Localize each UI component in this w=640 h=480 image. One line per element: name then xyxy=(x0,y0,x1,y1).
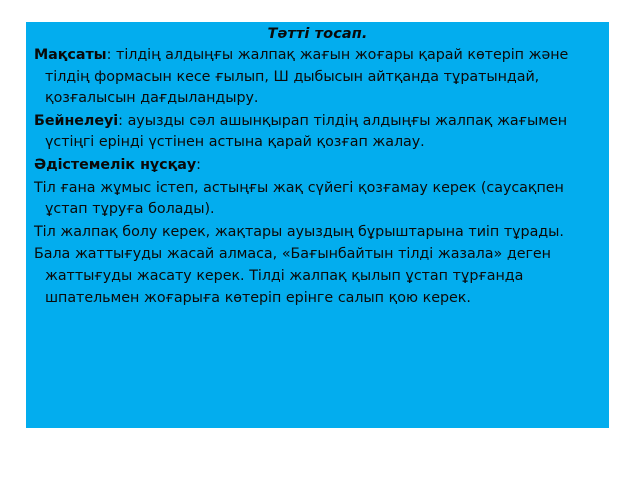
paragraph-text-instruction-1: Тіл ғана жұмыс істеп, астыңғы жақ сүйегі… xyxy=(34,180,564,218)
paragraph-label-adistemelik-nusqau: Әдістемелік нұсқау xyxy=(34,157,196,173)
paragraph-beinelewi: Бейнелеуі: ауызды сәл ашынқырап тілдің а… xyxy=(34,111,601,154)
paragraph-label-maqsaty: Мақсаты xyxy=(34,47,107,63)
slide-title: Тәтті тосап. xyxy=(26,24,609,44)
paragraph-label-beinelewi: Бейнелеуі xyxy=(34,113,118,129)
paragraph-separator-beinelewi: : xyxy=(118,113,127,129)
paragraph-separator-adistemelik-nusqau: : xyxy=(196,157,201,173)
paragraph-instruction-3: Бала жаттығуды жасай алмаса, «Бағынбайты… xyxy=(34,244,601,309)
paragraph-instruction-1: Тіл ғана жұмыс істеп, астыңғы жақ сүйегі… xyxy=(34,178,601,221)
paragraph-text-maqsaty: тілдің алдыңғы жалпақ жағын жоғары қарай… xyxy=(45,47,568,106)
paragraph-instruction-2: Тіл жалпақ болу керек, жақтары ауыздың б… xyxy=(34,222,601,244)
paragraph-text-instruction-3: Бала жаттығуды жасай алмаса, «Бағынбайты… xyxy=(34,246,551,305)
slide-body: Мақсаты: тілдің алдыңғы жалпақ жағын жоғ… xyxy=(26,45,609,309)
paragraph-text-instruction-2: Тіл жалпақ болу керек, жақтары ауыздың б… xyxy=(34,224,564,240)
paragraph-adistemelik-nusqau: Әдістемелік нұсқау: xyxy=(34,155,601,177)
paragraph-separator-maqsaty: : xyxy=(107,47,116,63)
slide-canvas: Тәтті тосап. Мақсаты: тілдің алдыңғы жал… xyxy=(26,22,609,428)
paragraph-maqsaty: Мақсаты: тілдің алдыңғы жалпақ жағын жоғ… xyxy=(34,45,601,110)
